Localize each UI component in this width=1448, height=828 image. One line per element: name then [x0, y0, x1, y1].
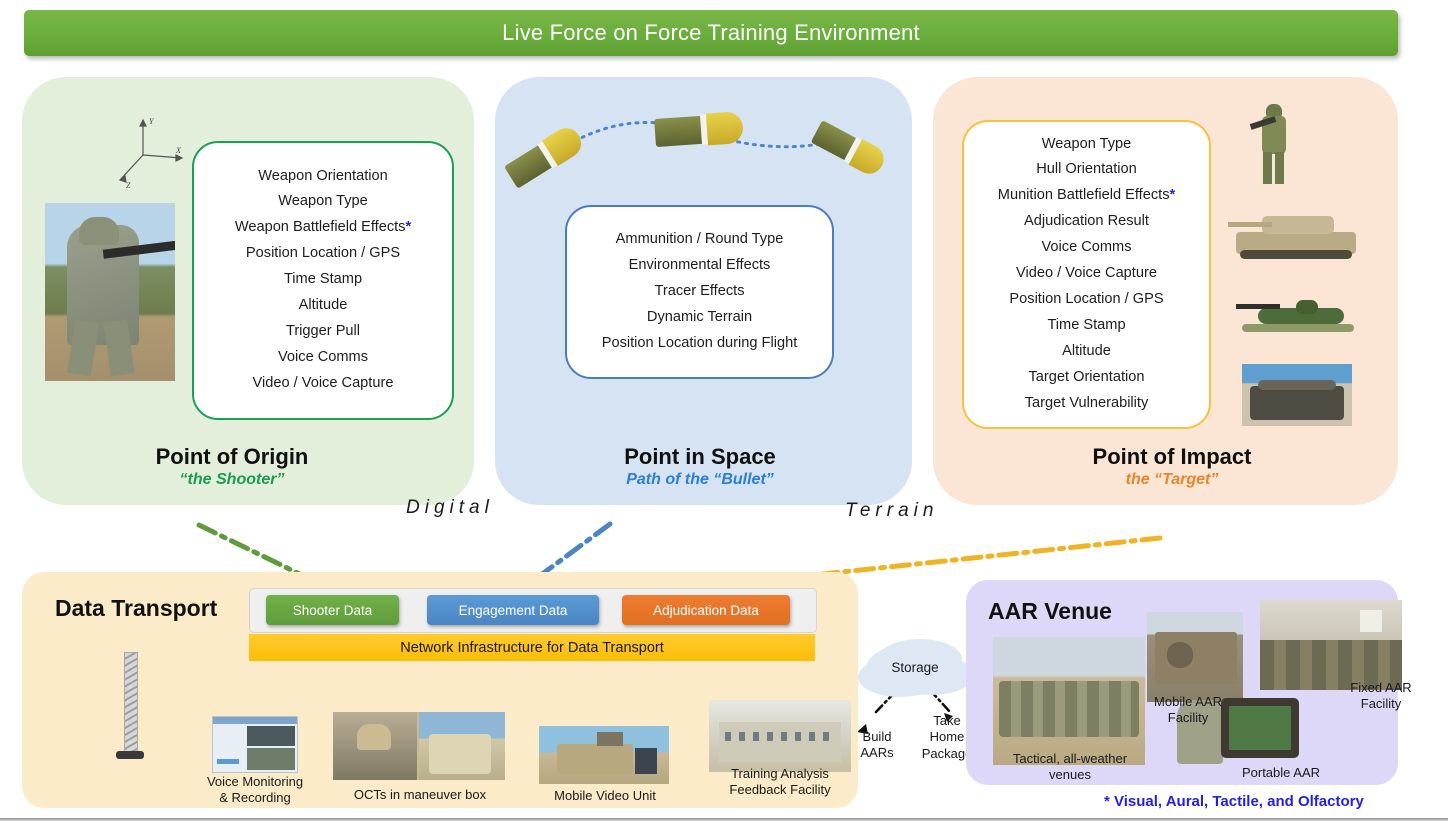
- bullet-illustration-mid: [654, 110, 744, 150]
- origin-items: Weapon OrientationWeapon TypeWeapon Batt…: [194, 143, 452, 397]
- attribute-item: Voice Comms: [964, 235, 1209, 261]
- footnote: * Visual, Aural, Tactile, and Olfactory: [1104, 793, 1364, 810]
- page-title: Live Force on Force Training Environment: [502, 20, 920, 46]
- attribute-item: Video / Voice Capture: [194, 371, 452, 397]
- label-digital: Digital: [406, 497, 494, 519]
- network-infrastructure-bar: Network Infrastructure for Data Transpor…: [249, 634, 815, 661]
- caption-octs: OCTs in maneuver box: [330, 787, 510, 803]
- impact-subheading: the “Target”: [962, 469, 1382, 491]
- attribute-item: Position Location / GPS: [964, 287, 1209, 313]
- sandbag-bunker-target-photo: [1242, 364, 1352, 426]
- label-terrain: Terrain: [845, 500, 938, 522]
- soldier-firing-rifle-photo: [45, 203, 175, 381]
- attribute-item: Ammunition / Round Type: [567, 227, 832, 253]
- prone-machinegunner-target-photo: [1232, 292, 1360, 336]
- octs-maneuver-box-photo: [333, 712, 505, 780]
- caption-portable-aar: Portable AAR: [1216, 765, 1346, 781]
- storage-label: Storage: [872, 660, 958, 677]
- attribute-item: Target Orientation: [964, 365, 1209, 391]
- voice-monitoring-photo: [212, 716, 298, 773]
- attribute-item: Weapon Type: [194, 189, 452, 215]
- impact-items: Weapon TypeHull OrientationMunition Batt…: [964, 122, 1209, 417]
- impact-heading: Point of Impact: [962, 444, 1382, 469]
- space-items: Ammunition / Round TypeEnvironmental Eff…: [567, 207, 832, 357]
- pill-adjudication-data[interactable]: Adjudication Data: [622, 595, 790, 625]
- caption-point-of-impact: Point of Impact the “Target”: [962, 444, 1382, 491]
- asterisk-marker: *: [1170, 187, 1176, 203]
- attribute-item: Voice Comms: [194, 345, 452, 371]
- mobile-video-unit-photo: [539, 726, 669, 784]
- attribute-item: Adjudication Result: [964, 209, 1209, 235]
- data-transport-label: Data Transport: [55, 595, 217, 622]
- attribute-item: Altitude: [194, 293, 452, 319]
- network-infrastructure-label: Network Infrastructure for Data Transpor…: [400, 640, 664, 656]
- asterisk-marker: *: [405, 219, 411, 235]
- bottom-divider: [0, 818, 1448, 821]
- attribute-item: Weapon Orientation: [194, 164, 452, 190]
- attribute-item: Position Location / GPS: [194, 241, 452, 267]
- attribute-item: Munition Battlefield Effects*: [964, 183, 1209, 209]
- attribute-item: Time Stamp: [964, 313, 1209, 339]
- attribute-item: Altitude: [964, 339, 1209, 365]
- fixed-aar-facility-photo: [1260, 600, 1402, 690]
- caption-tactical-venues: Tactical, all-weathervenues: [985, 751, 1155, 784]
- attribute-item: Hull Orientation: [964, 157, 1209, 183]
- pill-shooter-data[interactable]: Shooter Data: [266, 595, 399, 625]
- attribute-item: Environmental Effects: [567, 253, 832, 279]
- attribute-item: Dynamic Terrain: [567, 305, 832, 331]
- attribute-item: Target Vulnerability: [964, 391, 1209, 417]
- origin-subheading: “the Shooter”: [22, 469, 442, 491]
- caption-mobile-video-unit: Mobile Video Unit: [530, 788, 680, 804]
- caption-fixed-aar: Fixed AARFacility: [1338, 680, 1424, 713]
- standing-soldier-target-photo: [1248, 100, 1304, 188]
- attribute-item: Weapon Type: [964, 132, 1209, 158]
- attribute-item: Weapon Battlefield Effects*: [194, 215, 452, 241]
- space-heading: Point in Space: [490, 444, 910, 469]
- aar-venue-label: AAR Venue: [988, 598, 1112, 625]
- caption-training-analysis: Training AnalysisFeedback Facility: [700, 766, 860, 799]
- caption-voice-monitoring: Voice Monitoring& Recording: [190, 774, 320, 807]
- attribute-item: Video / Voice Capture: [964, 261, 1209, 287]
- origin-heading: Point of Origin: [22, 444, 442, 469]
- training-analysis-facility-photo: [709, 700, 851, 772]
- attribute-item: Trigger Pull: [194, 319, 452, 345]
- tank-target-photo: [1228, 206, 1362, 260]
- page-title-banner: Live Force on Force Training Environment: [24, 10, 1398, 56]
- attribute-item: Position Location during Flight: [567, 331, 832, 357]
- caption-point-in-space: Point in Space Path of the “Bullet”: [490, 444, 910, 491]
- space-subheading: Path of the “Bullet”: [490, 469, 910, 491]
- origin-attribute-list: Weapon OrientationWeapon TypeWeapon Batt…: [192, 141, 454, 420]
- tactical-allweather-venue-photo: [993, 637, 1145, 765]
- attribute-item: Tracer Effects: [567, 279, 832, 305]
- build-aars-label: BuildAARs: [845, 729, 909, 762]
- caption-point-of-origin: Point of Origin “the Shooter”: [22, 444, 442, 491]
- impact-attribute-list: Weapon TypeHull OrientationMunition Batt…: [962, 120, 1211, 429]
- attribute-item: Time Stamp: [194, 267, 452, 293]
- pill-engagement-data[interactable]: Engagement Data: [427, 595, 599, 625]
- caption-mobile-aar: Mobile AARFacility: [1140, 694, 1236, 727]
- space-attribute-list: Ammunition / Round TypeEnvironmental Eff…: [565, 205, 834, 379]
- comms-tower-illustration: [113, 652, 147, 762]
